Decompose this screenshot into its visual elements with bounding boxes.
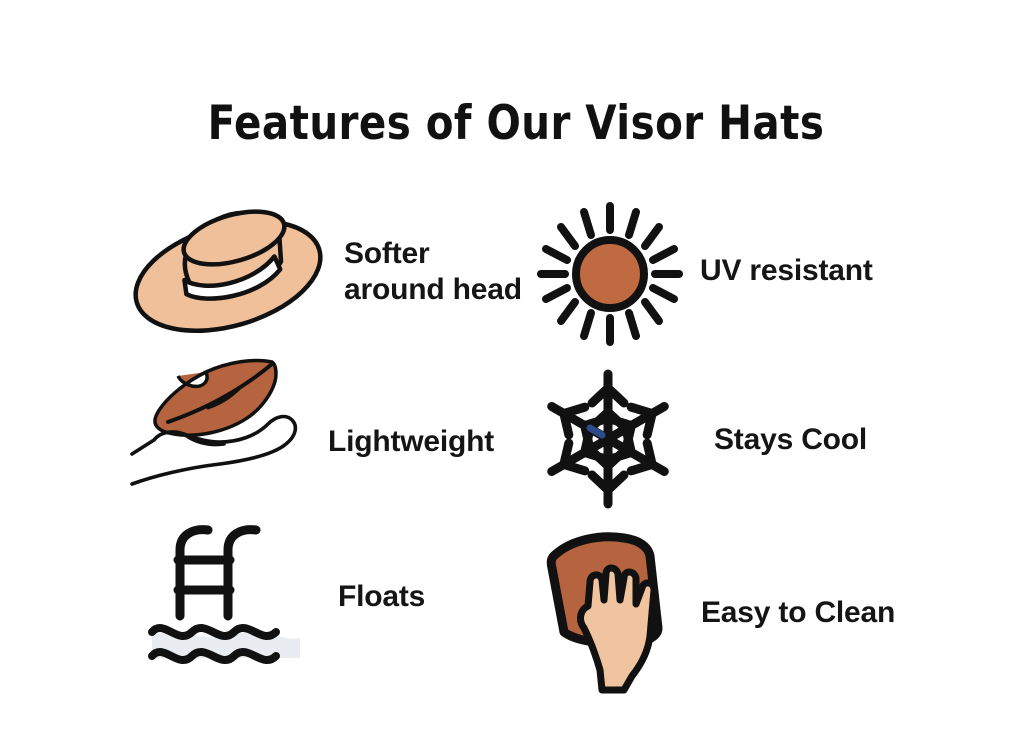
pool-ladder-water-icon (150, 520, 310, 660)
snowflake-icon (538, 372, 678, 507)
sun-icon (536, 200, 686, 342)
feature-label-floats: Floats (338, 579, 425, 614)
feature-label-uv-resistant: UV resistant (700, 253, 873, 288)
feature-label-lightweight: Lightweight (328, 424, 494, 459)
sun-hat-icon (128, 208, 328, 333)
leaf-on-hand-icon (128, 356, 318, 491)
feature-stays-cool: Stays Cool (538, 372, 867, 507)
feature-lightweight: Lightweight (128, 356, 494, 491)
feature-label-easy-to-clean: Easy to Clean (701, 595, 895, 630)
infographic-canvas: Features of Our Visor Hats Softer around… (0, 0, 1032, 729)
feature-label-softer-around-head: Softer around head (344, 236, 522, 307)
feature-softer-around-head: Softer around head (128, 208, 522, 333)
feature-uv-resistant: UV resistant (536, 200, 873, 342)
feature-label-stays-cool: Stays Cool (714, 422, 867, 457)
feature-floats: Floats (150, 520, 425, 660)
page-title: Features of Our Visor Hats (72, 96, 960, 151)
hand-wiping-cloth-icon (538, 524, 683, 694)
feature-easy-to-clean: Easy to Clean (538, 524, 895, 694)
